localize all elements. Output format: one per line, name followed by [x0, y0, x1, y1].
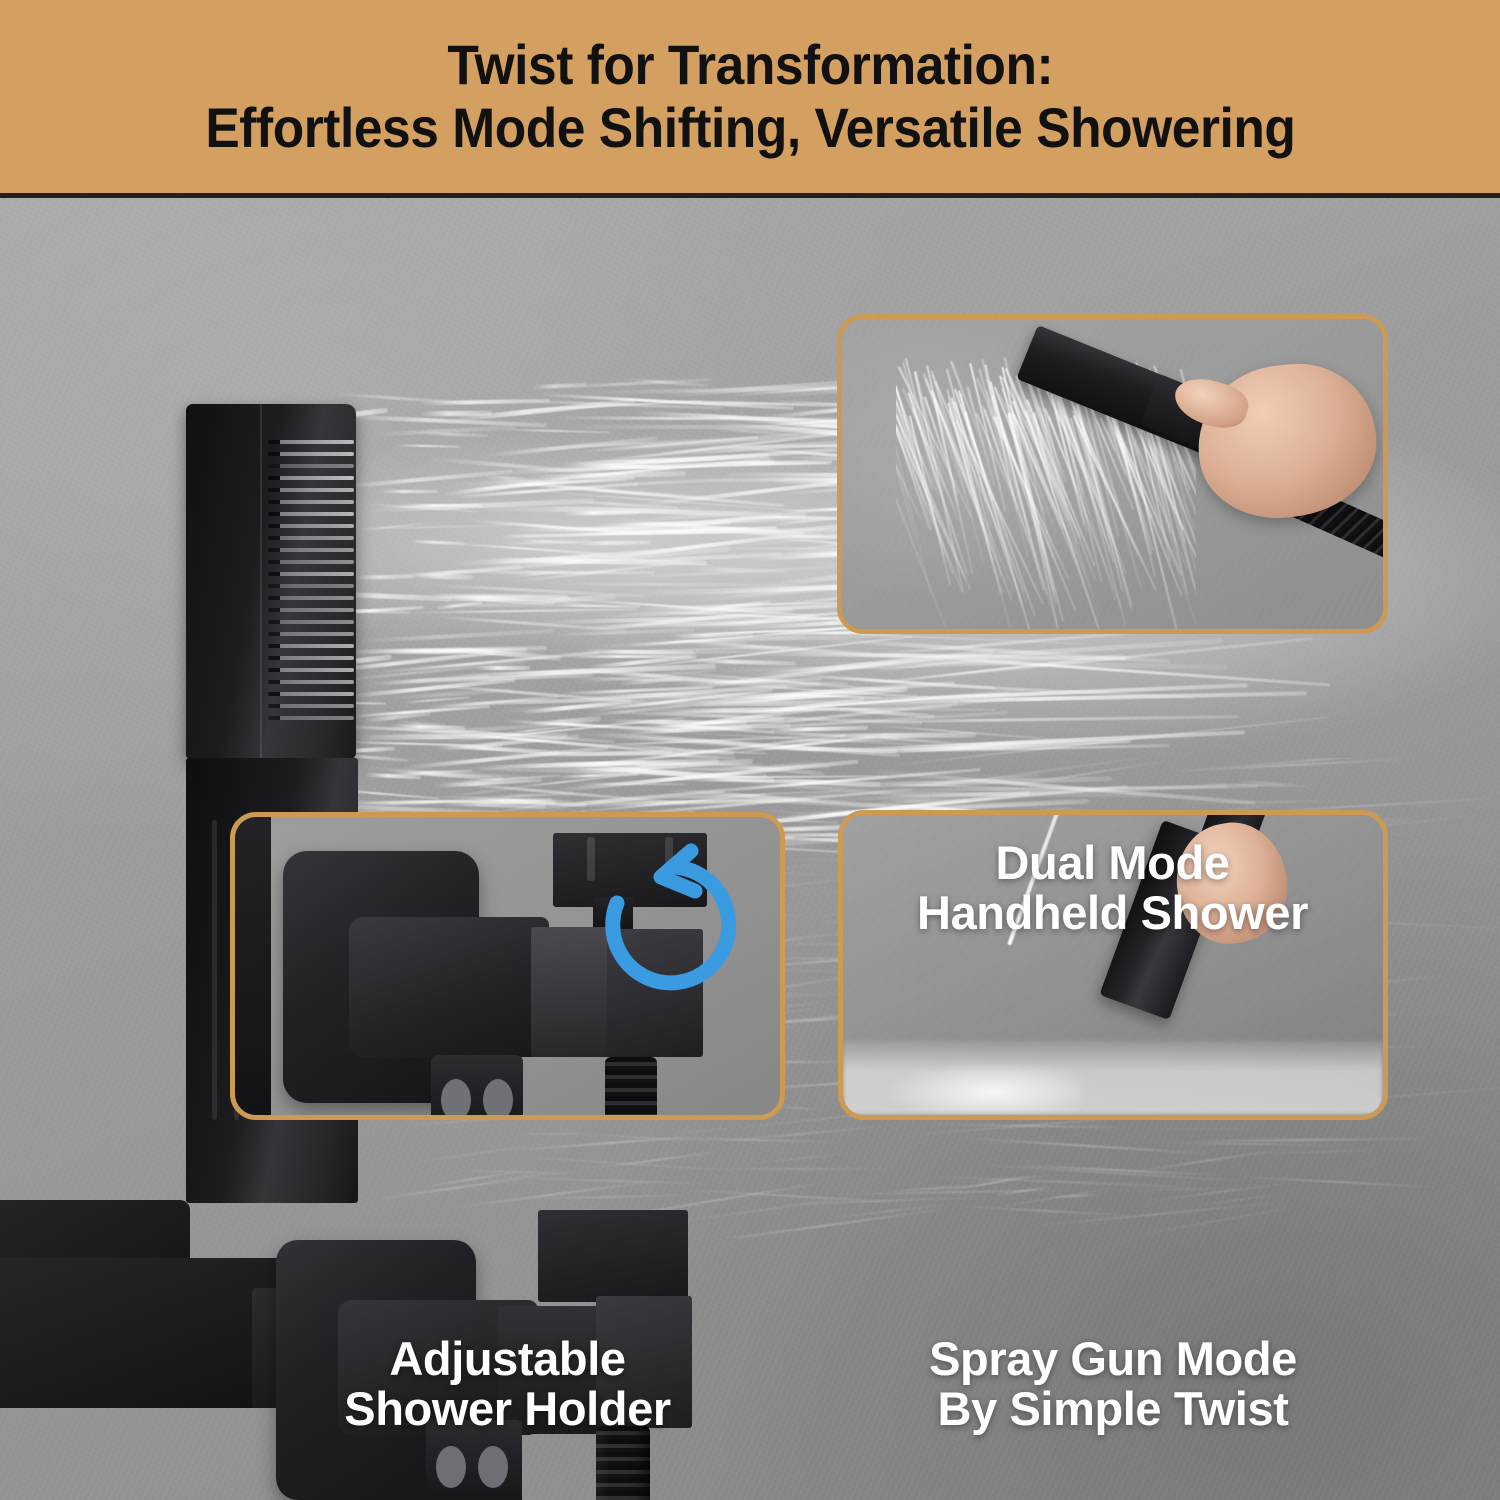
shower-holder-top-nut [538, 1210, 688, 1302]
caption-spray-gun-mode: Spray Gun Mode By Simple Twist [838, 1334, 1388, 1434]
caption-dual-mode-line-1: Dual Mode [837, 838, 1388, 888]
holder-top-nut [553, 833, 707, 907]
holder-hose [605, 1057, 657, 1115]
caption-adjustable-holder: Adjustable Shower Holder [230, 1334, 785, 1434]
holder-arm-body [349, 917, 549, 1057]
header-title-line-1: Twist for Transformation: [447, 34, 1053, 97]
header-divider-rule [0, 193, 1500, 198]
caption-holder-line-1: Adjustable [230, 1334, 785, 1384]
inset-panel-dual-mode [837, 314, 1388, 634]
shower-head-nozzle-array [268, 440, 354, 730]
caption-holder-line-2: Shower Holder [230, 1384, 785, 1434]
inset-photo-dual-mode [842, 319, 1383, 629]
caption-dual-mode-line-2: Handheld Shower [837, 888, 1388, 938]
inset-photo-holder [235, 817, 780, 1115]
holder-left-post [235, 817, 271, 1115]
header-title-line-2: Effortless Mode Shifting, Versatile Show… [205, 97, 1295, 160]
holder-swivel-block [607, 929, 703, 1057]
water-splash [883, 1061, 1083, 1113]
header-banner: Twist for Transformation: Effortless Mod… [0, 0, 1500, 193]
inset-panel-adjustable-holder [230, 812, 785, 1120]
product-feature-image: Twist for Transformation: Effortless Mod… [0, 0, 1500, 1500]
caption-spray-line-1: Spray Gun Mode [838, 1334, 1388, 1384]
caption-dual-mode: Dual Mode Handheld Shower [837, 838, 1388, 938]
holder-water-outlet [431, 1055, 523, 1115]
holder-mid-block [531, 927, 617, 1057]
shower-hose-center [596, 1426, 650, 1500]
caption-spray-line-2: By Simple Twist [838, 1384, 1388, 1434]
